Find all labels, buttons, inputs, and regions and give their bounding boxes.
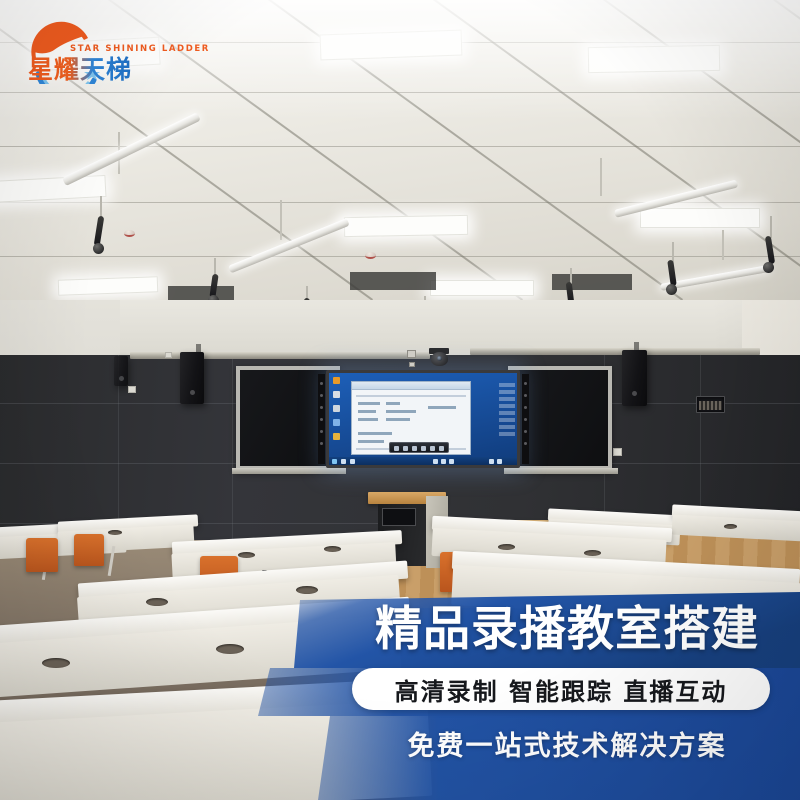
- ceiling-panel-light: [0, 175, 106, 203]
- ceiling-panel-light: [588, 45, 720, 73]
- smoke-detector-icon: [365, 252, 376, 259]
- ceiling-panel-light: [640, 208, 760, 228]
- promo-image: 精品录播教室搭建 高清录制 智能跟踪 直播互动 免费一站式技术解决方案 STAR…: [0, 0, 800, 800]
- interactive-display[interactable]: [326, 370, 520, 468]
- banner-title: 精品录播教室搭建: [375, 606, 759, 653]
- ceiling-panel-light: [320, 30, 463, 61]
- floating-toolbar[interactable]: [389, 442, 449, 453]
- banner-title-row: 精品录播教室搭建: [352, 606, 782, 653]
- banner-subtitle: 免费一站式技术解决方案: [408, 724, 727, 763]
- display-side-panel: [499, 383, 515, 443]
- smoke-detector-icon: [124, 230, 135, 237]
- wall-plate: [165, 352, 172, 358]
- wall-speaker: [180, 352, 204, 404]
- banner-subtitle-row: 免费一站式技术解决方案: [352, 724, 782, 763]
- student-chair: [74, 534, 104, 566]
- student-chair: [26, 538, 58, 572]
- ceiling-panel-light: [344, 215, 468, 237]
- taskbar[interactable]: [329, 457, 517, 465]
- logo[interactable]: STAR SHINING LADDER 星耀天梯: [14, 18, 174, 84]
- hanging-microphone: [93, 243, 104, 254]
- wall-plate: [128, 386, 136, 393]
- wall-speaker: [114, 356, 128, 386]
- ceiling-panel-light: [430, 280, 534, 296]
- lectern-monitor[interactable]: [382, 508, 416, 526]
- ceiling-panel-light: [58, 276, 158, 295]
- equipment-panel: [696, 396, 725, 413]
- ptz-tracking-camera: [431, 352, 448, 366]
- hanging-microphone: [763, 262, 774, 273]
- hanging-microphone: [666, 284, 677, 295]
- wall-plate: [613, 448, 622, 456]
- wall-sensor: [409, 362, 415, 367]
- banner-feature-text: 高清录制 智能跟踪 直播互动: [395, 672, 728, 707]
- wall-camera: [407, 350, 416, 358]
- logo-chinese-name: 星耀天梯: [28, 50, 132, 86]
- banner-feature-pill: 高清录制 智能跟踪 直播互动: [352, 668, 770, 710]
- wall-speaker: [622, 350, 647, 406]
